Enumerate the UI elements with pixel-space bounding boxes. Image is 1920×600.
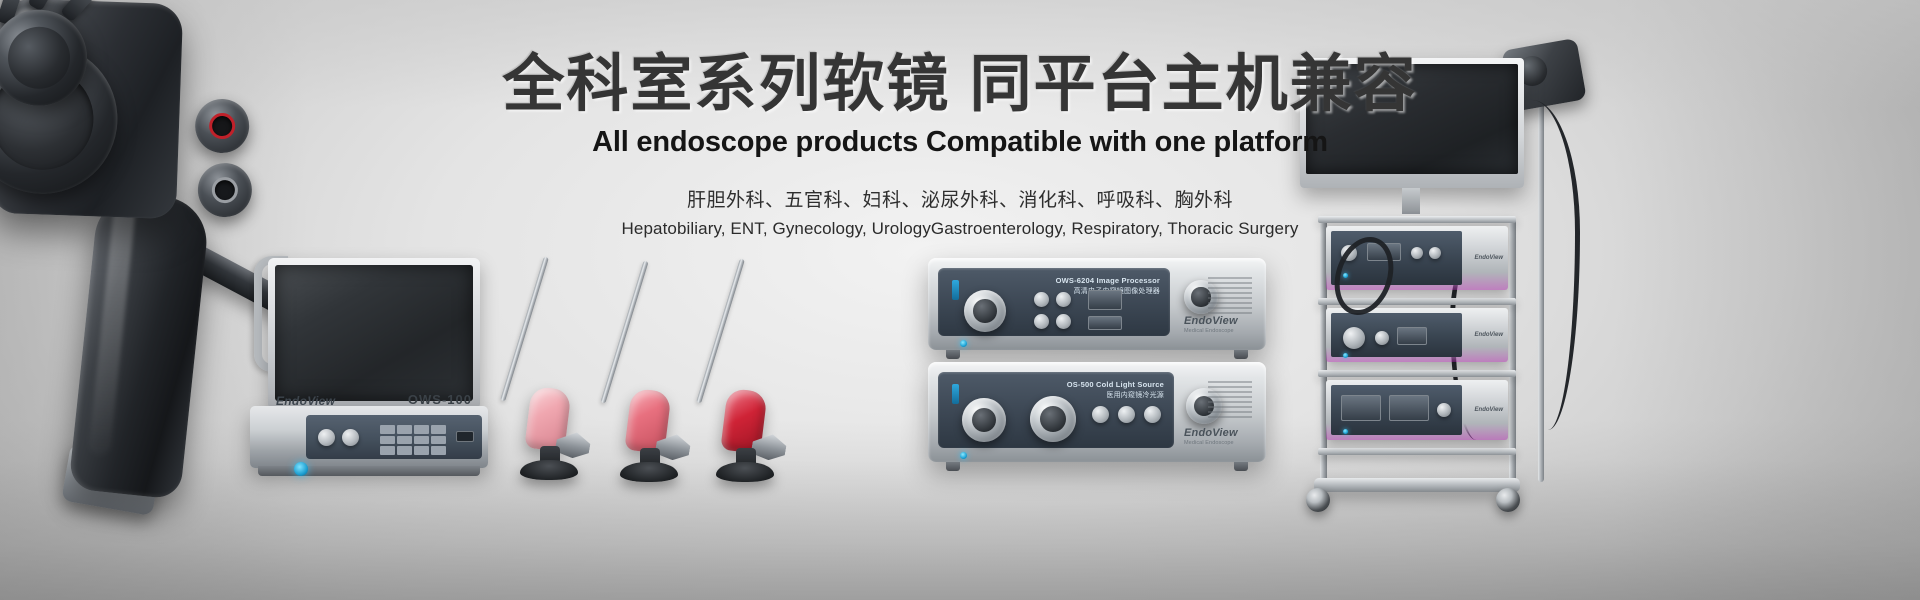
brand-tagline: Medical Endoscope — [1184, 440, 1238, 446]
brand-name: EndoView — [1184, 315, 1238, 327]
cart-shelf — [1318, 448, 1516, 455]
display-screen — [275, 265, 473, 401]
endoscopy-product-banner: EndoView OWS-100 — [0, 0, 1920, 600]
model-label: OWS-100 — [408, 392, 472, 407]
brand-label: EndoView Medical Endoscope — [1184, 427, 1238, 446]
chassis-feet — [946, 462, 1248, 471]
processor-front-panel: OWS-6204 Image Processor 高清电子内窥镜图像处理器 — [938, 268, 1170, 336]
caster-wheel-icon — [1306, 488, 1330, 512]
function-button — [1034, 292, 1049, 307]
panel-title-cn: 医用内窥镜冷光源 — [1106, 392, 1164, 399]
status-display — [1341, 395, 1381, 421]
function-button — [1034, 314, 1049, 329]
control-knob — [1437, 403, 1451, 417]
control-knob — [1375, 331, 1389, 345]
cart-post — [1509, 216, 1516, 484]
brand-name: EndoView — [1184, 427, 1238, 439]
chassis-feet — [946, 350, 1248, 359]
brand-label: EndoView — [276, 394, 335, 408]
brand-tagline: Medical Endoscope — [1184, 328, 1238, 334]
status-display — [1397, 327, 1427, 345]
function-button — [1056, 292, 1071, 307]
cart-base — [1314, 478, 1520, 492]
power-led-icon — [294, 462, 308, 476]
department-list-english: Hepatobiliary, ENT, Gynecology, UrologyG… — [0, 219, 1920, 239]
display-stand — [716, 462, 774, 482]
light-port-connector — [962, 398, 1006, 442]
brand-label: EndoView — [1475, 255, 1503, 261]
control-knob — [342, 429, 359, 446]
base-foot — [258, 466, 480, 476]
department-list-chinese: 肝胆外科、五官科、妇科、泌尿外科、消化科、呼吸科、胸外科 — [0, 185, 1920, 212]
cold-light-source-unit: OS-500 Cold Light Source 医用内窥镜冷光源 EndoVi… — [928, 362, 1266, 462]
device-front-panel — [1331, 313, 1462, 357]
brightness-knob — [1030, 396, 1076, 442]
instrument-shaft — [500, 257, 549, 402]
display-bezel — [268, 258, 480, 410]
monitor-processor-ows-100: EndoView OWS-100 — [232, 248, 492, 480]
panel-title-en: OS-500 Cold Light Source — [1067, 380, 1164, 391]
flexible-forceps-red — [706, 256, 876, 484]
display-stand — [620, 462, 678, 482]
light-source-front-panel: OS-500 Cold Light Source 医用内窥镜冷光源 — [938, 372, 1174, 448]
mode-button — [1118, 406, 1135, 423]
banner-headline: 全科室系列软镜 同平台主机兼容 — [0, 52, 1920, 117]
keypad — [380, 425, 446, 455]
status-display — [1088, 316, 1122, 330]
ventilation-grille — [1208, 378, 1252, 420]
panel-accent-strip — [952, 280, 959, 300]
cart-shelf — [1318, 370, 1516, 377]
ventilation-grille — [1208, 274, 1252, 316]
power-led-icon — [960, 452, 967, 459]
panel-accent-strip — [952, 384, 959, 404]
banner-subheadline: All endoscope products Compatible with o… — [0, 127, 1920, 159]
power-led-icon — [960, 340, 967, 347]
brand-label: EndoView — [1475, 332, 1503, 338]
control-knob — [318, 429, 335, 446]
panel-title-en: OWS-6204 Image Processor — [1056, 276, 1160, 287]
brand-label: EndoView Medical Endoscope — [1184, 315, 1238, 334]
image-processor-unit: OWS-6204 Image Processor 高清电子内窥镜图像处理器 En… — [928, 258, 1266, 350]
control-panel — [306, 415, 482, 459]
caster-wheel-icon — [1496, 488, 1520, 512]
brand-label: EndoView — [1475, 407, 1503, 413]
status-display — [1088, 290, 1122, 310]
main-control-knob — [964, 290, 1006, 332]
connector-port — [456, 431, 474, 442]
power-led-icon — [1343, 429, 1348, 434]
processor-base: EndoView OWS-100 — [250, 406, 488, 468]
device-front-panel — [1331, 385, 1462, 435]
control-knob — [1429, 247, 1441, 259]
brightness-knob — [1343, 327, 1365, 349]
panel-title: OS-500 Cold Light Source 医用内窥镜冷光源 — [1067, 380, 1164, 401]
banner-text-block: 全科室系列软镜 同平台主机兼容 All endoscope products C… — [0, 52, 1920, 239]
cart-device-auxiliary: EndoView — [1326, 380, 1508, 440]
power-led-icon — [1343, 353, 1348, 358]
mode-button — [1092, 406, 1109, 423]
function-button — [1056, 314, 1071, 329]
mode-button — [1144, 406, 1161, 423]
cart-device-light-source: EndoView — [1326, 308, 1508, 362]
status-display — [1389, 395, 1429, 421]
display-stand — [520, 460, 578, 480]
control-knob — [1411, 247, 1423, 259]
